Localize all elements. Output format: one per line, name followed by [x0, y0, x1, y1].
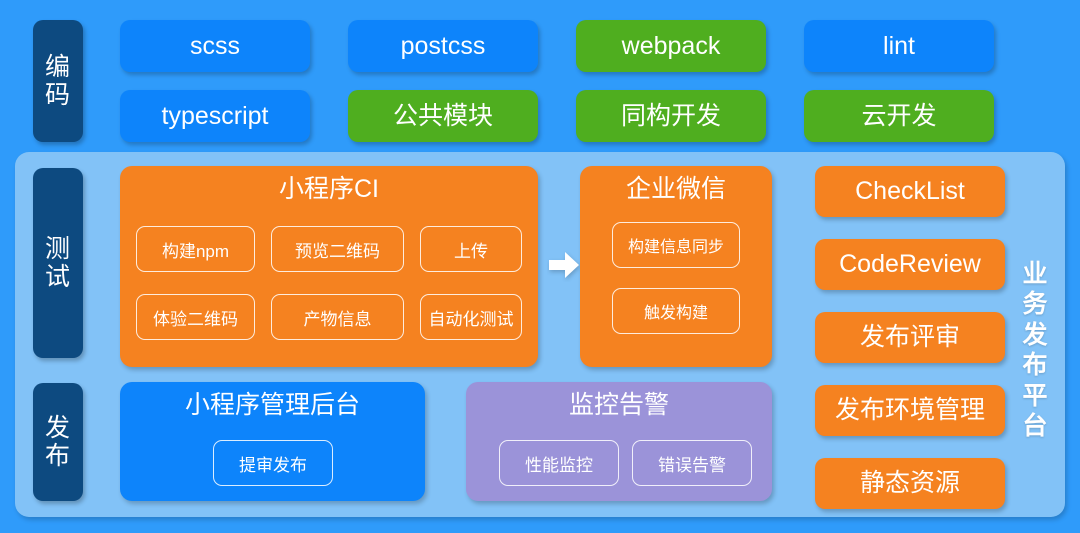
wecom-chip-build-info-sync[interactable]: 构建信息同步 — [612, 222, 740, 268]
coding-item-isomorphic-dev-label: 同构开发 — [621, 102, 721, 131]
platform-item-static-assets-label: 静态资源 — [860, 469, 960, 498]
admin-chip-submit-review-publish[interactable]: 提审发布 — [213, 440, 333, 486]
diagram-root: 编 码 scss postcss webpack lint typescript… — [0, 0, 1080, 533]
coding-item-cloud-dev[interactable]: 云开发 — [804, 90, 994, 142]
group-monitoring-alert-title: 监控告警 — [466, 392, 772, 420]
platform-vertical-label-char-2: 务 — [1022, 289, 1047, 320]
group-mini-program-ci: 小程序CI 构建npm 预览二维码 上传 体验二维码 产物信息 自动化测试 — [120, 166, 538, 367]
group-monitoring-alert: 监控告警 性能监控 错误告警 — [466, 382, 772, 501]
ci-chip-artifact-info[interactable]: 产物信息 — [271, 294, 404, 340]
coding-item-typescript-label: typescript — [162, 102, 269, 131]
coding-item-postcss[interactable]: postcss — [348, 20, 538, 72]
coding-item-webpack-label: webpack — [622, 32, 721, 61]
platform-item-release-review[interactable]: 发布评审 — [815, 312, 1005, 363]
coding-item-scss-label: scss — [190, 32, 240, 61]
ci-chip-preview-qrcode-label: 预览二维码 — [295, 237, 380, 262]
stage-label-release: 发 布 — [33, 383, 83, 501]
stage-label-release-char-2: 布 — [45, 442, 71, 470]
coding-item-lint[interactable]: lint — [804, 20, 994, 72]
wecom-chip-trigger-build[interactable]: 触发构建 — [612, 288, 740, 334]
platform-item-codereview[interactable]: CodeReview — [815, 239, 1005, 290]
platform-vertical-label: 业 务 发 布 平 台 — [1018, 230, 1052, 470]
coding-item-typescript[interactable]: typescript — [120, 90, 310, 142]
monitor-chip-error-alert[interactable]: 错误告警 — [632, 440, 752, 486]
platform-item-checklist[interactable]: CheckList — [815, 166, 1005, 217]
coding-item-webpack[interactable]: webpack — [576, 20, 766, 72]
platform-item-env-management[interactable]: 发布环境管理 — [815, 385, 1005, 436]
stage-label-testing-char-2: 试 — [45, 263, 71, 291]
stage-label-coding-char-2: 码 — [45, 81, 71, 109]
coding-item-cloud-dev-label: 云开发 — [861, 102, 936, 131]
ci-chip-preview-qrcode[interactable]: 预览二维码 — [271, 226, 404, 272]
ci-chip-build-npm[interactable]: 构建npm — [136, 226, 255, 272]
stage-label-testing: 测 试 — [33, 168, 83, 358]
ci-chip-build-npm-label: 构建npm — [162, 237, 229, 262]
ci-chip-automated-test-label: 自动化测试 — [429, 305, 514, 330]
group-admin-console-title: 小程序管理后台 — [120, 392, 425, 420]
ci-chip-automated-test[interactable]: 自动化测试 — [420, 294, 522, 340]
admin-chip-submit-review-publish-label: 提审发布 — [239, 451, 307, 476]
stage-label-coding: 编 码 — [33, 20, 83, 142]
coding-item-common-module-label: 公共模块 — [393, 102, 493, 131]
platform-vertical-label-char-4: 布 — [1022, 350, 1047, 381]
ci-chip-upload[interactable]: 上传 — [420, 226, 522, 272]
platform-item-codereview-label: CodeReview — [839, 250, 981, 279]
wecom-chip-trigger-build-label: 触发构建 — [644, 299, 708, 323]
platform-vertical-label-char-3: 发 — [1022, 320, 1047, 351]
group-wecom-title: 企业微信 — [580, 176, 772, 204]
coding-item-lint-label: lint — [883, 32, 915, 61]
platform-item-release-review-label: 发布评审 — [860, 323, 960, 352]
ci-chip-experience-qrcode[interactable]: 体验二维码 — [136, 294, 255, 340]
ci-chip-artifact-info-label: 产物信息 — [304, 305, 372, 330]
platform-vertical-label-char-6: 台 — [1022, 411, 1047, 442]
coding-item-common-module[interactable]: 公共模块 — [348, 90, 538, 142]
monitor-chip-error-alert-label: 错误告警 — [658, 451, 726, 476]
platform-item-env-management-label: 发布环境管理 — [835, 396, 985, 425]
platform-vertical-label-char-1: 业 — [1022, 259, 1047, 290]
group-mini-program-ci-title: 小程序CI — [120, 176, 538, 204]
wecom-chip-build-info-sync-label: 构建信息同步 — [628, 233, 724, 257]
ci-chip-experience-qrcode-label: 体验二维码 — [153, 305, 238, 330]
platform-item-checklist-label: CheckList — [855, 177, 965, 206]
arrow-right-icon — [547, 248, 581, 282]
coding-item-postcss-label: postcss — [401, 32, 486, 61]
stage-label-coding-char-1: 编 — [45, 53, 71, 81]
stage-label-release-char-1: 发 — [45, 414, 71, 442]
coding-item-isomorphic-dev[interactable]: 同构开发 — [576, 90, 766, 142]
stage-label-testing-char-1: 测 — [45, 235, 71, 263]
ci-chip-upload-label: 上传 — [454, 237, 488, 262]
platform-vertical-label-char-5: 平 — [1022, 381, 1047, 412]
monitor-chip-performance-label: 性能监控 — [525, 451, 593, 476]
coding-item-scss[interactable]: scss — [120, 20, 310, 72]
group-wecom: 企业微信 构建信息同步 触发构建 — [580, 166, 772, 367]
platform-item-static-assets[interactable]: 静态资源 — [815, 458, 1005, 509]
group-admin-console: 小程序管理后台 提审发布 — [120, 382, 425, 501]
monitor-chip-performance[interactable]: 性能监控 — [499, 440, 619, 486]
